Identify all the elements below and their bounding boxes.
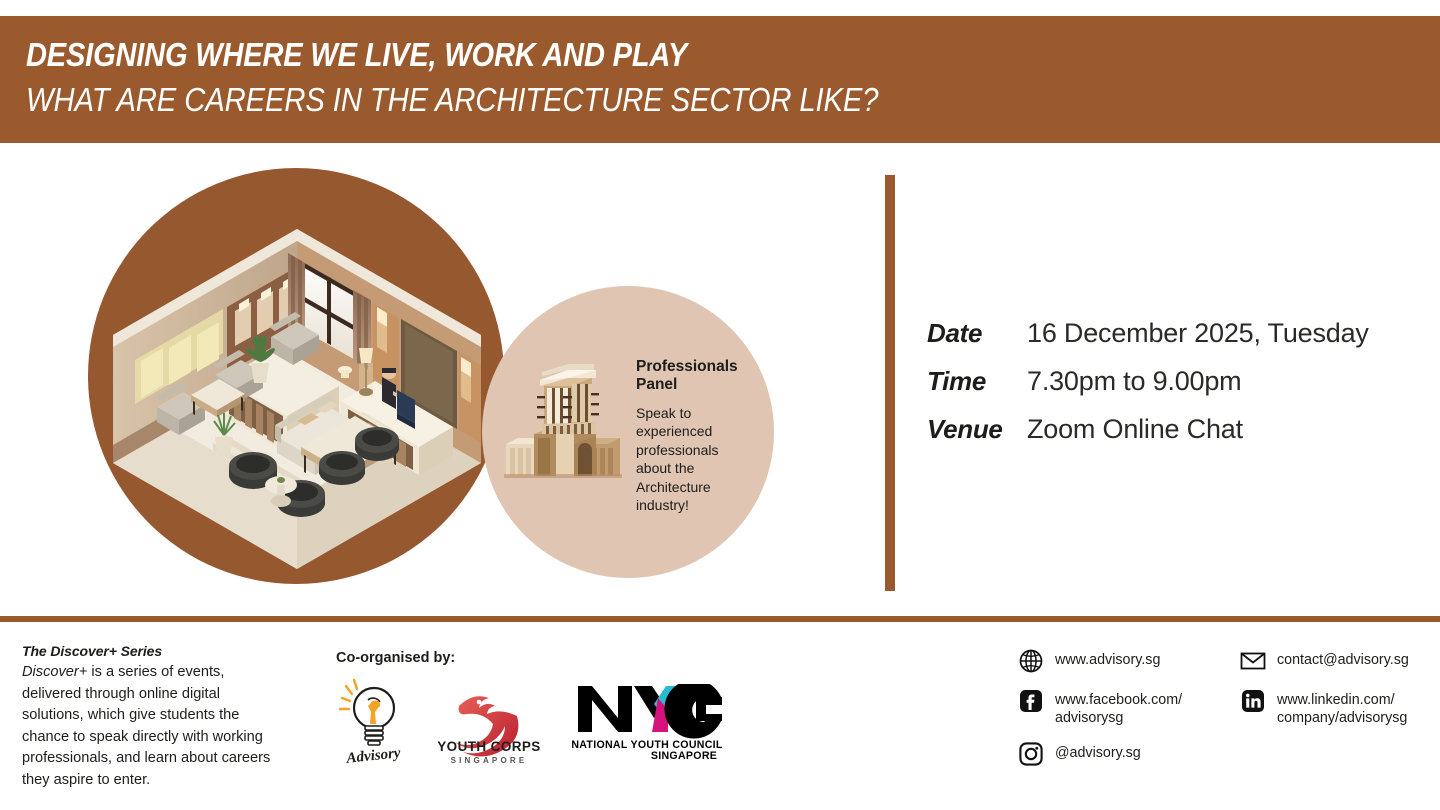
contact-email[interactable]: contact@advisory.sg	[1240, 648, 1440, 674]
contact-instagram-label: @advisory.sg	[1055, 741, 1141, 762]
detail-row-venue: Venue Zoom Online Chat	[927, 414, 1369, 445]
discover-series-lead: Discover+	[22, 664, 87, 680]
page-title-primary: DESIGNING WHERE WE LIVE, WORK AND PLAY	[26, 38, 687, 71]
contact-linkedin[interactable]: www.linkedin.com/ company/advisorysg	[1240, 688, 1440, 727]
panel-title-line2: Panel	[636, 376, 677, 393]
instagram-icon	[1018, 741, 1044, 767]
linkedin-icon	[1240, 688, 1266, 714]
page-title-secondary: WHAT ARE CAREERS IN THE ARCHITECTURE SEC…	[26, 83, 878, 116]
discover-series-block: The Discover+ Series Discover+ is a seri…	[22, 641, 278, 792]
contact-linkedin-label: www.linkedin.com/ company/advisorysg	[1277, 688, 1440, 727]
isometric-lobby-illustration	[105, 185, 490, 570]
event-details: Date 16 December 2025, Tuesday Time 7.30…	[927, 318, 1369, 462]
envelope-icon	[1240, 648, 1266, 674]
svg-text:SINGAPORE: SINGAPORE	[451, 756, 528, 765]
discover-series-description: Discover+ is a series of events, deliver…	[22, 662, 278, 792]
svg-text:SINGAPORE: SINGAPORE	[651, 750, 717, 760]
panel-title: Professionals Panel	[636, 358, 766, 395]
details-accent-bar	[885, 175, 895, 591]
contact-links: www.advisory.sg contact@advisory.sg www.…	[1018, 648, 1440, 767]
detail-value-time: 7.30pm to 9.00pm	[1027, 366, 1241, 397]
contact-website-label: www.advisory.sg	[1055, 648, 1160, 669]
advisory-logo: Advisory	[334, 676, 414, 766]
detail-label-venue: Venue	[927, 414, 1027, 445]
co-organised-label: Co-organised by:	[336, 650, 455, 666]
panel-description: Speak to experienced professionals about…	[636, 404, 732, 515]
contact-facebook-label: www.facebook.com/ advisorysg	[1055, 688, 1240, 727]
footer-divider	[0, 616, 1440, 622]
discover-series-title: The Discover+ Series	[22, 641, 278, 662]
detail-label-date: Date	[927, 318, 1027, 349]
youth-corps-singapore-logo: YOUTH CORPS SINGAPORE	[437, 672, 542, 767]
facebook-icon	[1018, 688, 1044, 714]
detail-row-date: Date 16 December 2025, Tuesday	[927, 318, 1369, 349]
svg-text:YOUTH CORPS: YOUTH CORPS	[437, 739, 540, 754]
detail-value-venue: Zoom Online Chat	[1027, 414, 1243, 445]
panel-title-line1: Professionals	[636, 358, 738, 375]
contact-instagram[interactable]: @advisory.sg	[1018, 741, 1240, 767]
detail-value-date: 16 December 2025, Tuesday	[1027, 318, 1369, 349]
detail-row-time: Time 7.30pm to 9.00pm	[927, 366, 1369, 397]
contact-website[interactable]: www.advisory.sg	[1018, 648, 1240, 674]
detail-label-time: Time	[927, 366, 1027, 397]
contact-email-label: contact@advisory.sg	[1277, 648, 1409, 669]
globe-icon	[1018, 648, 1044, 674]
discover-series-rest: is a series of events, delivered through…	[22, 664, 270, 788]
national-youth-council-logo: NATIONAL YOUTH COUNCIL SINGAPORE	[572, 684, 722, 760]
heritage-tower-illustration	[500, 358, 625, 483]
contact-facebook[interactable]: www.facebook.com/ advisorysg	[1018, 688, 1240, 727]
poster-canvas: DESIGNING WHERE WE LIVE, WORK AND PLAY W…	[0, 0, 1440, 810]
svg-text:Advisory: Advisory	[345, 745, 402, 766]
